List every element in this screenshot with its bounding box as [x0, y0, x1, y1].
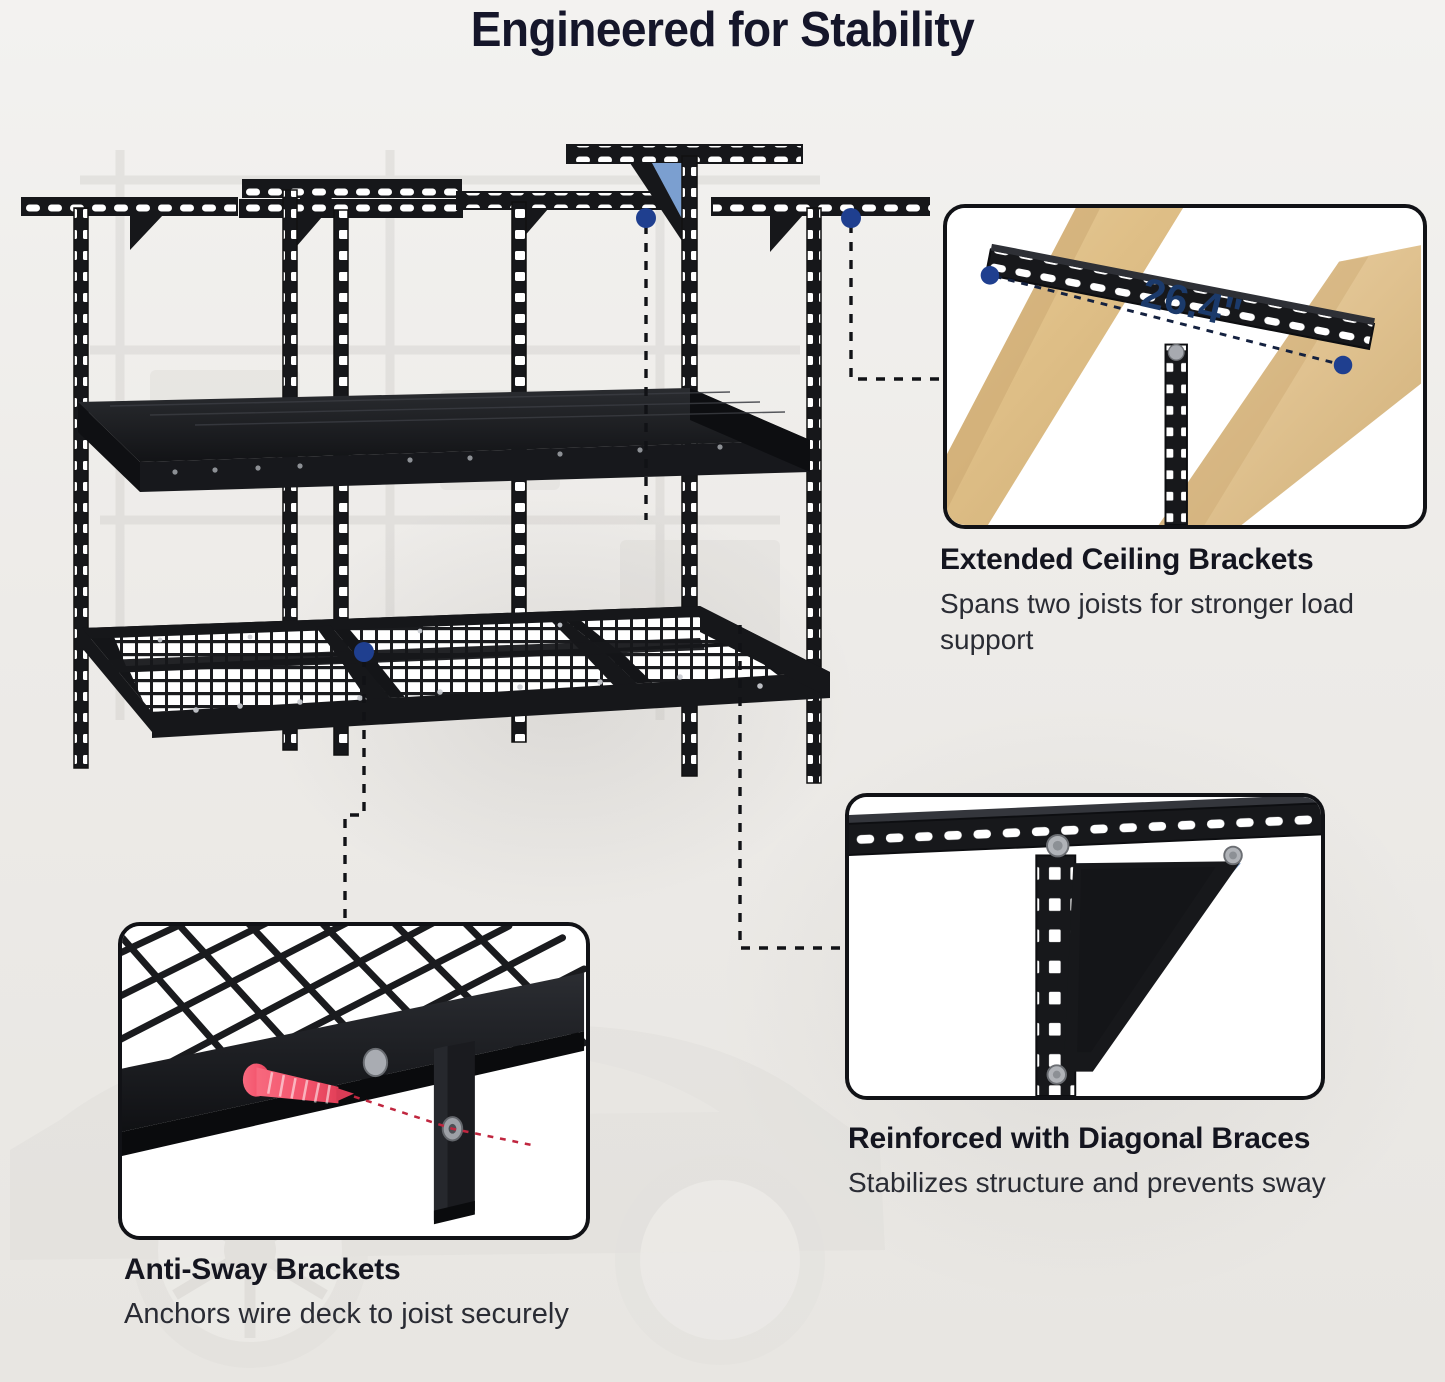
- caption-body: Anchors wire deck to joist securely: [124, 1296, 724, 1334]
- diagonal-brace-photo: [845, 793, 1325, 1100]
- anti-sway-photo: [118, 922, 590, 1240]
- caption-body: Stabilizes structure and prevents sway: [848, 1165, 1328, 1201]
- caption-body: Spans two joists for stronger load suppo…: [940, 586, 1440, 659]
- caption-anti-sway-brackets: Anti-Sway Brackets Anchors wire deck to …: [124, 1252, 724, 1334]
- product-rack-illustration: [0, 120, 930, 860]
- page-title: Engineered for Stability: [43, 2, 1401, 58]
- caption-ceiling-brackets: Extended Ceiling Brackets Spans two jois…: [940, 542, 1440, 659]
- caption-heading: Extended Ceiling Brackets: [940, 542, 1440, 577]
- caption-heading: Anti-Sway Brackets: [124, 1252, 724, 1287]
- caption-diagonal-braces: Reinforced with Diagonal Braces Stabiliz…: [848, 1121, 1328, 1201]
- ceiling-bracket-photo: 26.4": [943, 204, 1427, 529]
- caption-heading: Reinforced with Diagonal Braces: [848, 1121, 1328, 1156]
